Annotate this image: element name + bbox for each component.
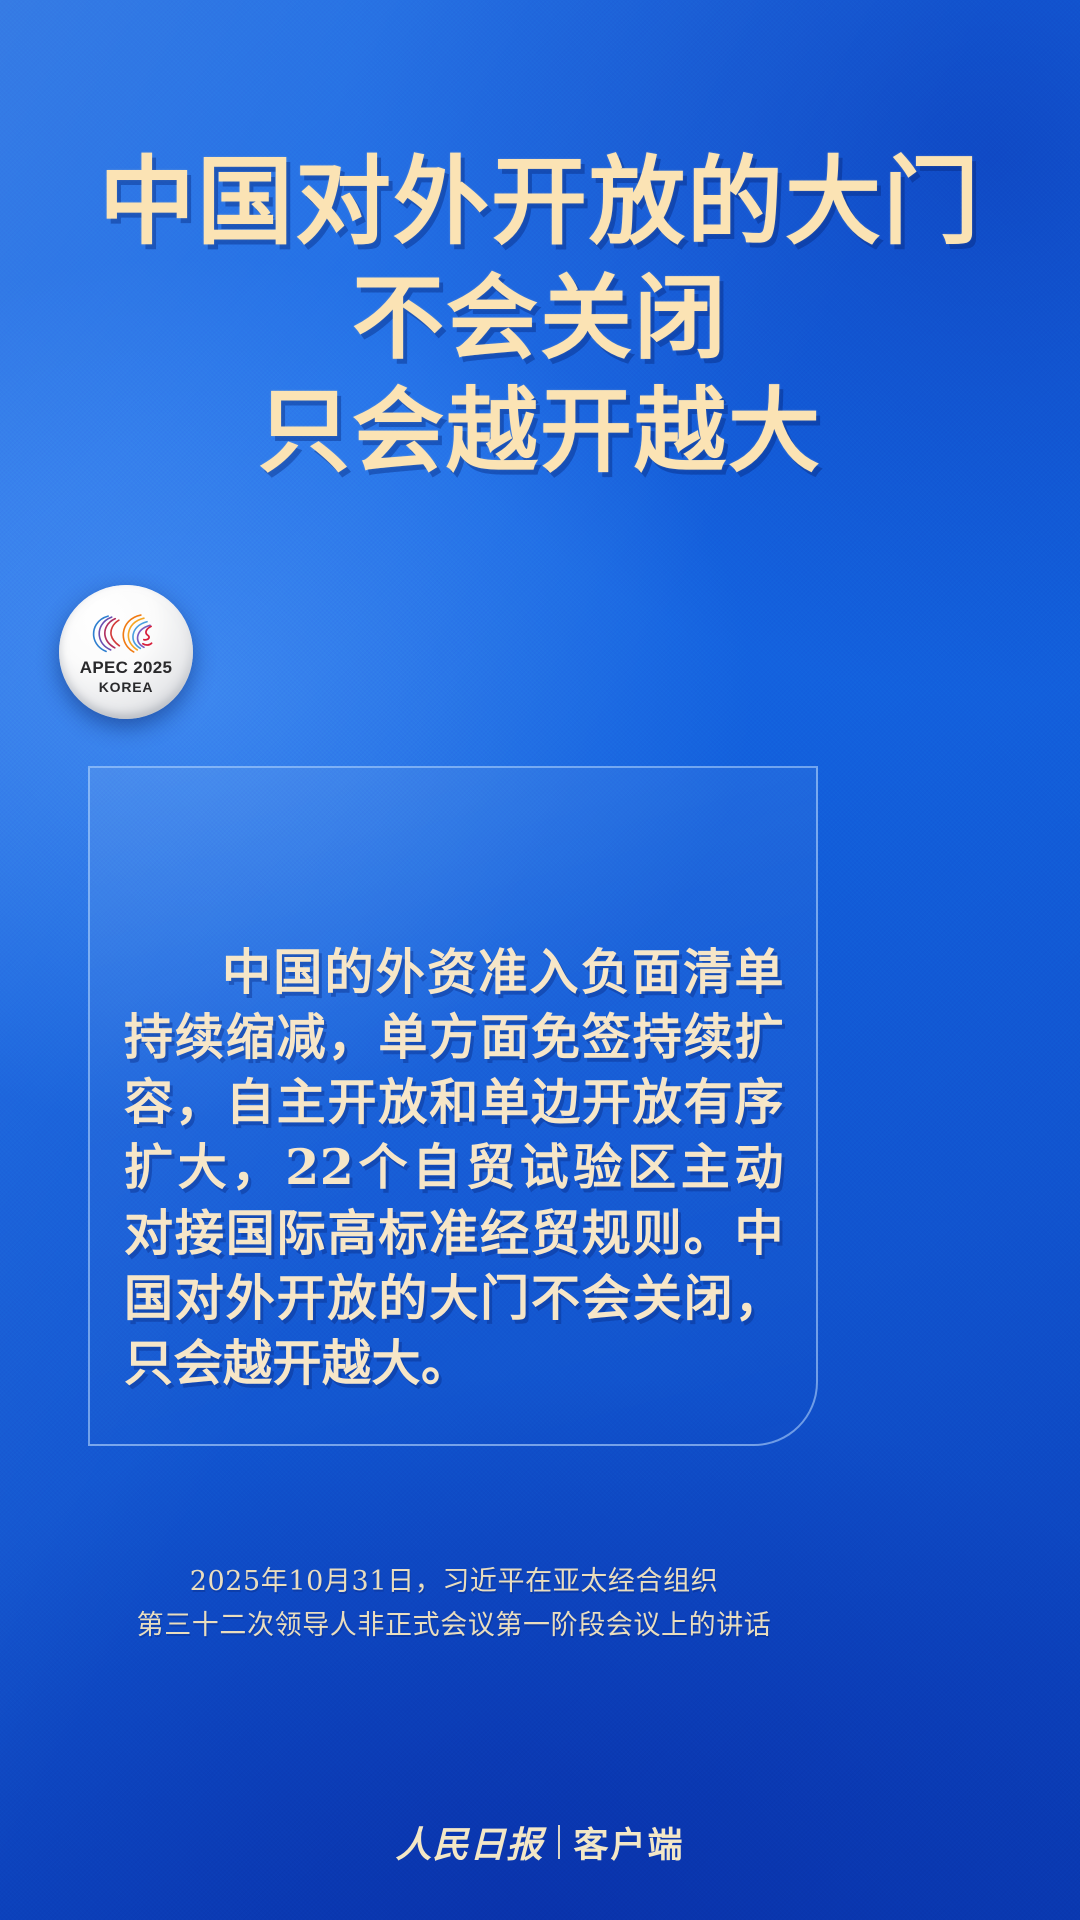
apec-badge-subtitle: KOREA — [99, 679, 154, 695]
apec-badge-title: APEC 2025 — [80, 658, 172, 678]
page-title: 中国对外开放的大门 不会关闭 只会越开越大 — [0, 152, 1080, 481]
footer-divider — [558, 1825, 560, 1859]
footer-logo: 人民日报 客户端 — [0, 1816, 1080, 1868]
footer-brand-name: 人民日报 — [395, 1816, 543, 1868]
attribution-line-2: 第三十二次领导人非正式会议第一阶段会议上的讲话 — [104, 1604, 804, 1648]
title-line-2: 不会关闭 — [0, 270, 1080, 368]
attribution-line-1: 2025年10月31日，习近平在亚太经合组织 — [104, 1560, 804, 1604]
poster-root: 中国对外开放的大门 不会关闭 只会越开越大 APEC 2025 KOREA — [0, 0, 1080, 1920]
apec-badge: APEC 2025 KOREA — [59, 585, 193, 719]
quote-body: 中国的外资准入负面清单持续缩减，单方面免签持续扩容，自主开放和单边开放有序扩大，… — [124, 940, 784, 1396]
apec-face-logo-icon — [87, 611, 165, 655]
title-line-3: 只会越开越大 — [0, 383, 1080, 481]
title-line-1: 中国对外开放的大门 — [0, 152, 1080, 254]
footer-app-name: 客户端 — [574, 1817, 685, 1868]
quote-attribution: 2025年10月31日，习近平在亚太经合组织 第三十二次领导人非正式会议第一阶段… — [104, 1560, 804, 1647]
